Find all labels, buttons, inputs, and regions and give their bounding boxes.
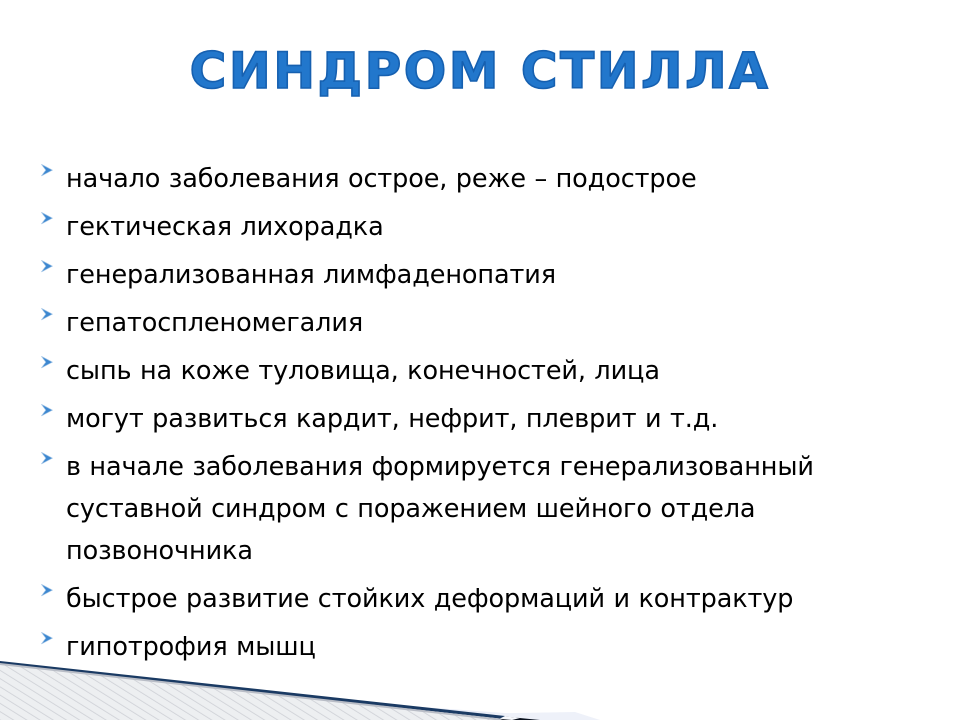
list-item: генерализованная лимфаденопатия [40, 254, 950, 296]
pale-blue-tail [120, 712, 600, 720]
arrow-chevron-right-icon [40, 206, 66, 226]
list-item-text: начало заболевания острое, реже – подост… [66, 158, 950, 200]
list-item-text: быстрое развитие стойких деформаций и ко… [66, 578, 950, 620]
arrow-chevron-right-icon [40, 626, 66, 646]
list-item: гектическая лихорадка [40, 206, 950, 248]
list-item-text: гепатоспленомегалия [66, 302, 950, 344]
slide: СИНДРОМ СТИЛЛА начало заболевания острое… [0, 0, 960, 720]
title-container: СИНДРОМ СТИЛЛА [0, 44, 960, 99]
list-item-text: генерализованная лимфаденопатия [66, 254, 950, 296]
black-wedge [0, 668, 540, 720]
arrow-chevron-right-icon [40, 446, 66, 466]
list-item: начало заболевания острое, реже – подост… [40, 158, 950, 200]
arrow-chevron-right-icon [40, 578, 66, 598]
arrow-chevron-right-icon [40, 350, 66, 370]
list-item-text: могут развиться кардит, нефрит, плеврит … [66, 398, 950, 440]
list-item: сыпь на коже туловища, конечностей, лица [40, 350, 950, 392]
arrow-chevron-right-icon [40, 398, 66, 418]
list-item: в начале заболевания формируется генерал… [40, 446, 950, 572]
list-item: гипотрофия мышц [40, 626, 950, 668]
list-item: гепатоспленомегалия [40, 302, 950, 344]
list-item-text: сыпь на коже туловища, конечностей, лица [66, 350, 950, 392]
pale-blue-wedge [0, 676, 600, 720]
list-item-text: гипотрофия мышц [66, 626, 950, 668]
arrow-chevron-right-icon [40, 254, 66, 274]
list-item: могут развиться кардит, нефрит, плеврит … [40, 398, 950, 440]
arrow-chevron-right-icon [40, 158, 66, 178]
bullet-list: начало заболевания острое, реже – подост… [40, 158, 950, 674]
list-item: быстрое развитие стойких деформаций и ко… [40, 578, 950, 620]
page-title: СИНДРОМ СТИЛЛА [190, 44, 771, 99]
list-item-text: гектическая лихорадка [66, 206, 950, 248]
list-item-text: в начале заболевания формируется генерал… [66, 446, 946, 572]
arrow-chevron-right-icon [40, 302, 66, 322]
